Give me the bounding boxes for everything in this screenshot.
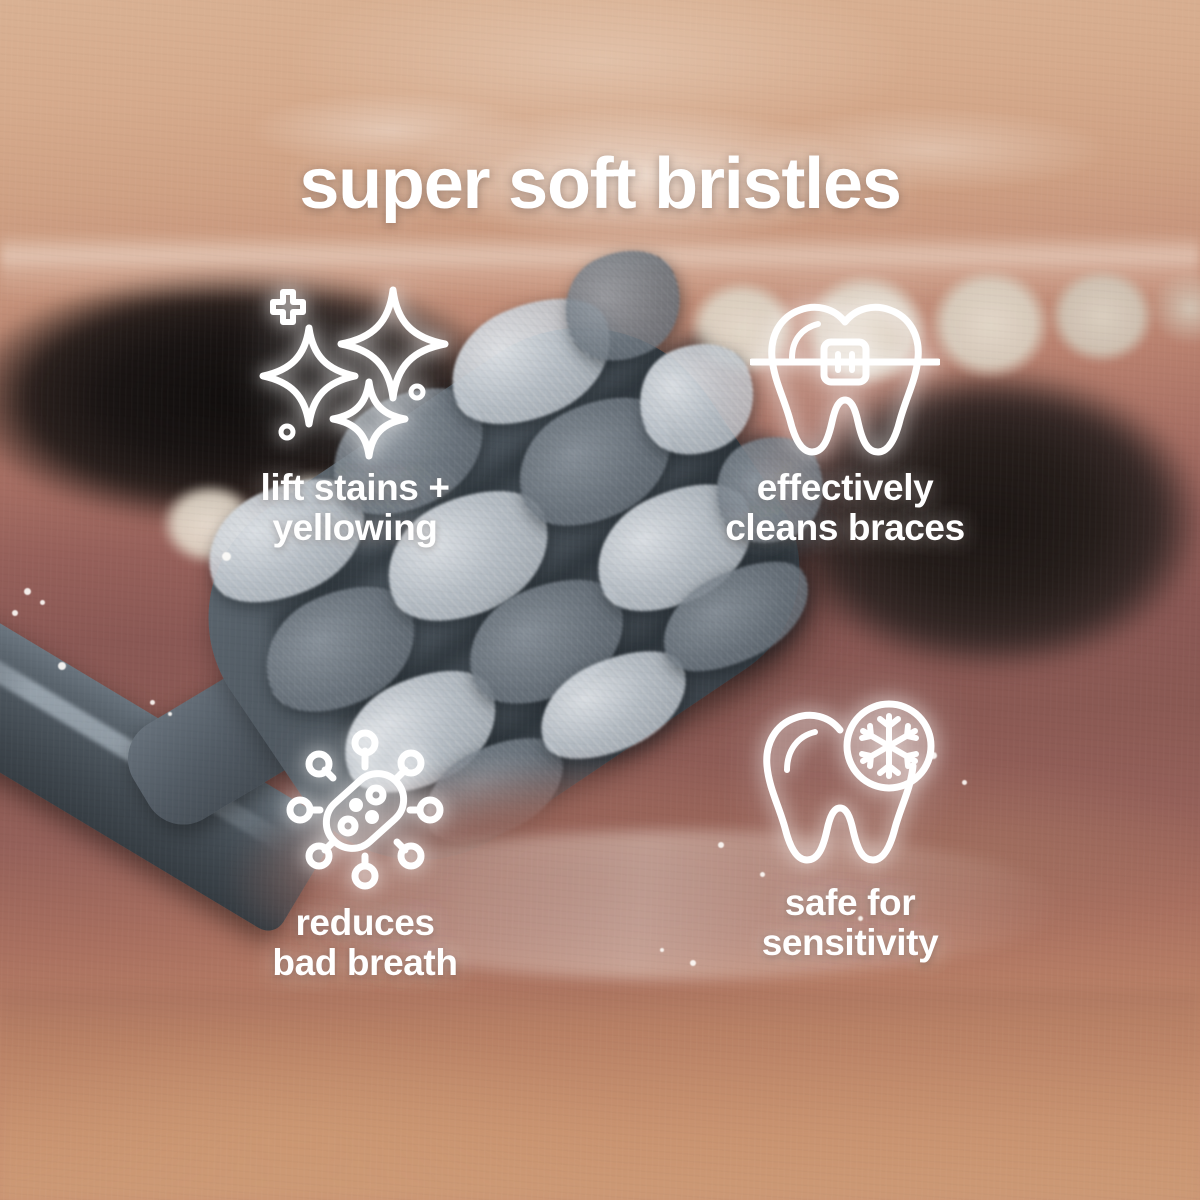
tooth-braces-icon: [635, 300, 1055, 460]
feature-label: effectively cleans braces: [635, 468, 1055, 548]
feature-safe-for-sensitivity: safe for sensitivity: [640, 715, 1060, 963]
feature-label-line1: reduces: [155, 903, 575, 943]
overlay-content: super soft bristles l: [0, 0, 1200, 1200]
feature-label-line2: bad breath: [155, 943, 575, 983]
feature-label-line2: cleans braces: [635, 508, 1055, 548]
feature-label: lift stains + yellowing: [145, 468, 565, 548]
tooth-snowflake-icon: [640, 715, 1060, 875]
feature-label-line1: lift stains +: [145, 468, 565, 508]
page-title: super soft bristles: [0, 148, 1200, 220]
feature-cleans-braces: effectively cleans braces: [635, 300, 1055, 548]
feature-label-line2: sensitivity: [640, 923, 1060, 963]
feature-reduces-bad-breath: reduces bad breath: [155, 735, 575, 983]
feature-label-line1: safe for: [640, 883, 1060, 923]
germ-icon: [155, 735, 575, 895]
sparkles-icon: [145, 300, 565, 460]
feature-label: reduces bad breath: [155, 903, 575, 983]
feature-label-line2: yellowing: [145, 508, 565, 548]
feature-lift-stains: lift stains + yellowing: [145, 300, 565, 548]
product-feature-graphic: super soft bristles l: [0, 0, 1200, 1200]
feature-label: safe for sensitivity: [640, 883, 1060, 963]
feature-label-line1: effectively: [635, 468, 1055, 508]
